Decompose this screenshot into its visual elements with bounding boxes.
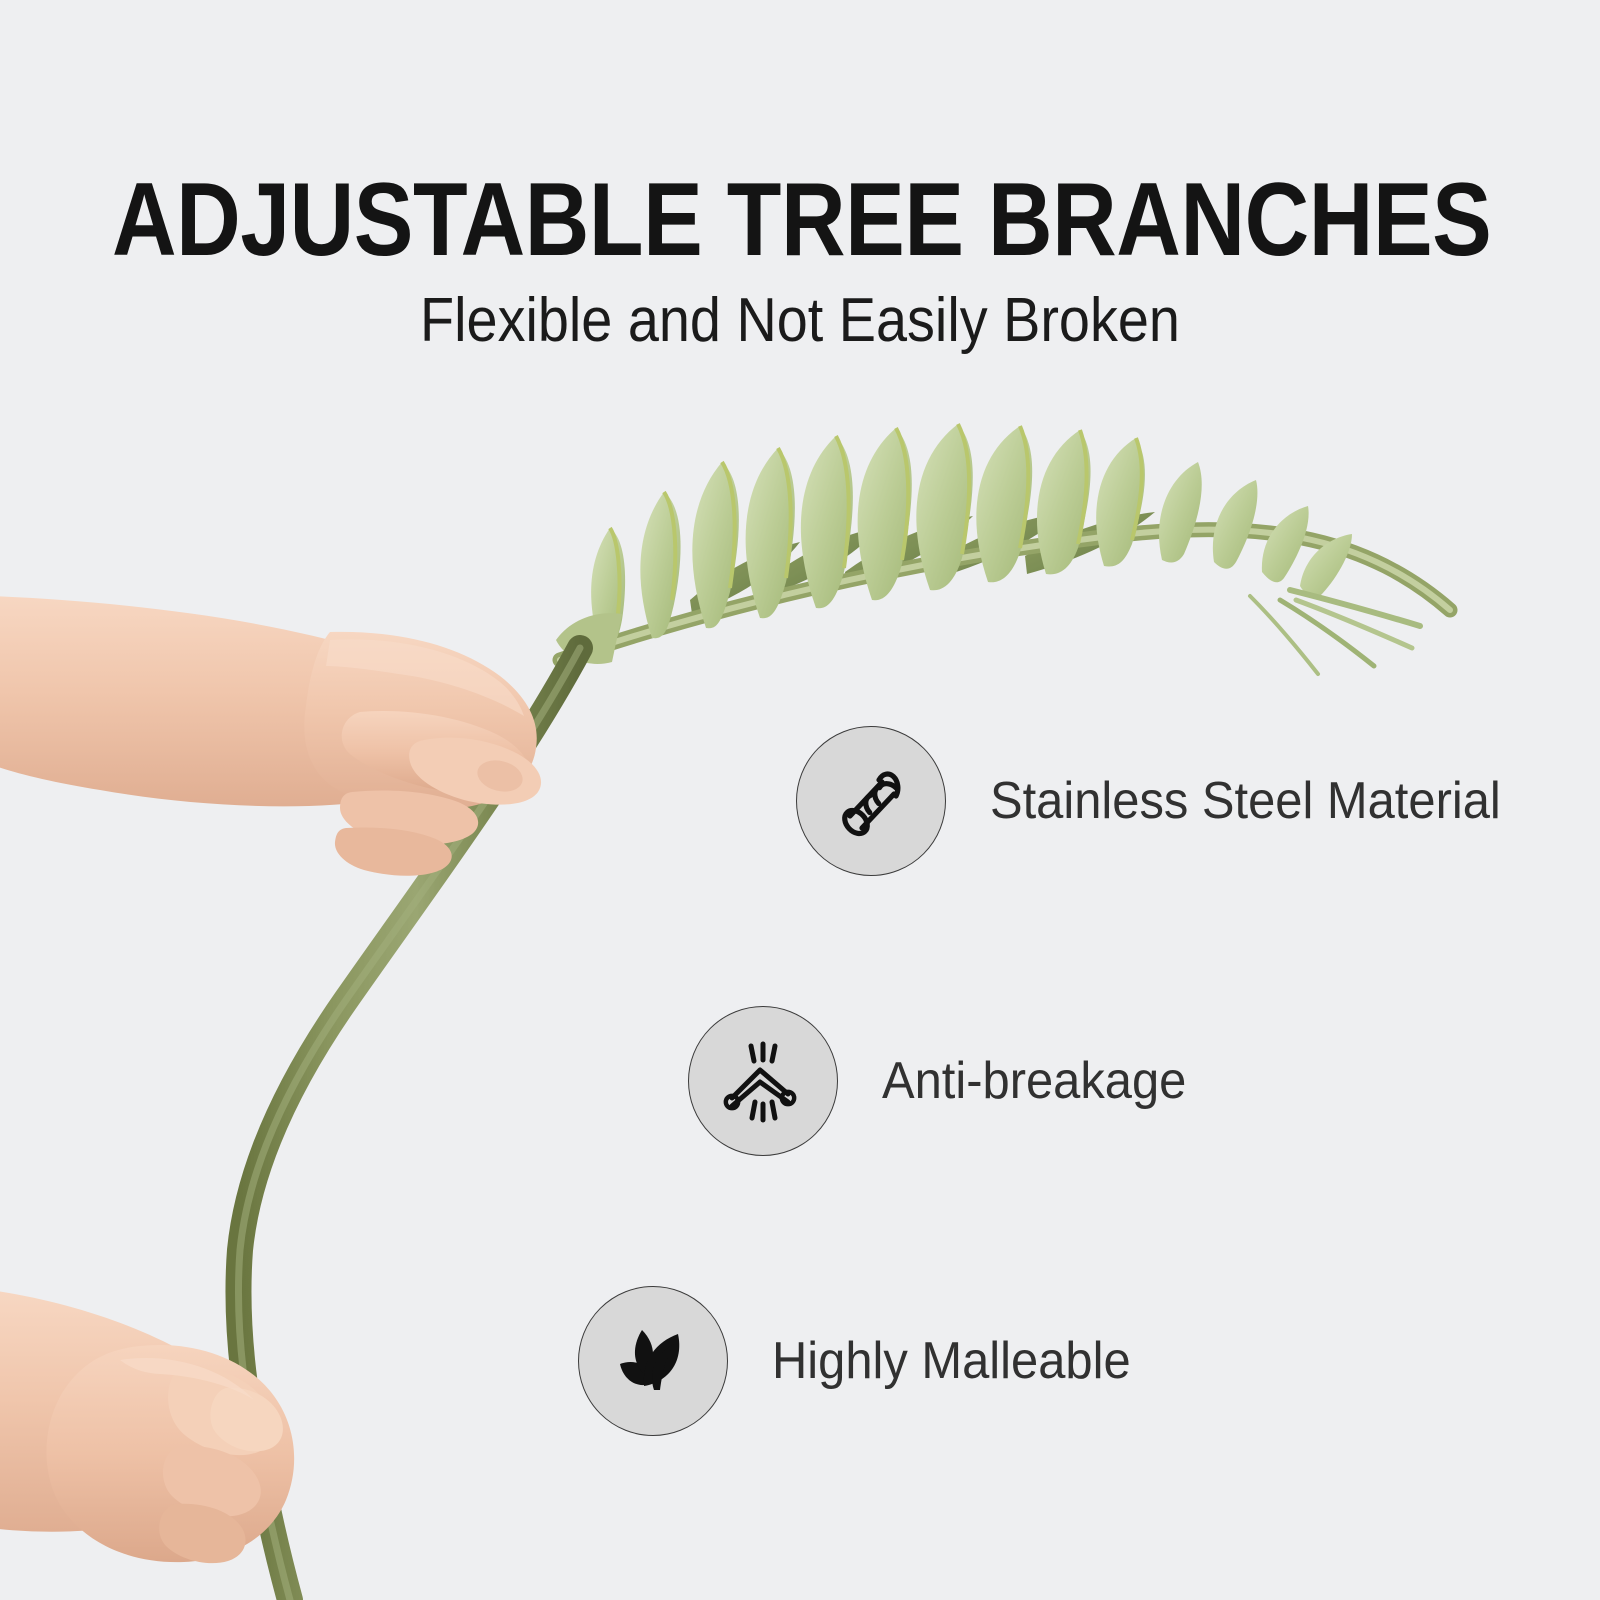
feature-item-stainless-steel-material: Stainless Steel Material xyxy=(796,726,1533,876)
leaves-icon xyxy=(612,1320,694,1402)
feature-label: Highly Malleable xyxy=(772,1335,1131,1387)
steel-coil-icon xyxy=(828,758,914,844)
bending-rod-icon xyxy=(718,1036,808,1126)
feature-item-highly-malleable: Highly Malleable xyxy=(578,1286,1154,1436)
feature-item-anti-breakage: Anti-breakage xyxy=(688,1006,1206,1156)
product-feature-graphic: ADJUSTABLE TREE BRANCHES Flexible and No… xyxy=(0,0,1600,1600)
feature-icon-badge xyxy=(578,1286,728,1436)
feature-label: Stainless Steel Material xyxy=(990,775,1501,827)
page-subtitle: Flexible and Not Easily Broken xyxy=(80,272,1520,352)
feature-label: Anti-breakage xyxy=(882,1055,1186,1107)
feature-icon-badge xyxy=(688,1006,838,1156)
header: ADJUSTABLE TREE BRANCHES Flexible and No… xyxy=(0,0,1600,352)
page-title: ADJUSTABLE TREE BRANCHES xyxy=(112,0,1488,272)
feature-icon-badge xyxy=(796,726,946,876)
